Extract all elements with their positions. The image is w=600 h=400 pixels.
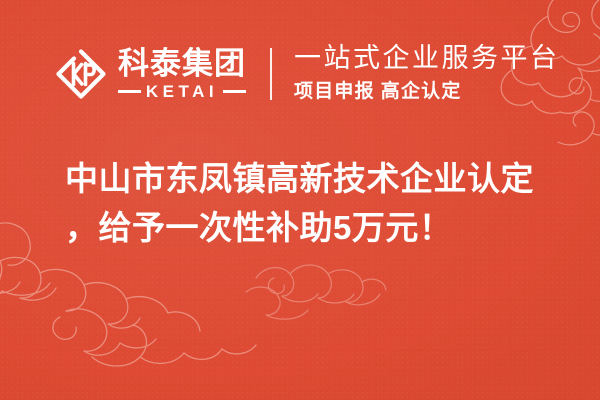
- brand-name-cn: 科泰集团: [118, 48, 246, 80]
- tagline-main: 一站式企业服务平台: [294, 43, 560, 75]
- header-divider: [270, 48, 272, 100]
- headline: 中山市东凤镇高新技术企业认定 ，给予一次性补助5万元！: [65, 155, 565, 253]
- dash-right-icon: [223, 90, 246, 93]
- ketai-diamond-kp-logo-icon: [55, 48, 107, 100]
- banner-header: 科泰集团 KETAI 一站式企业服务平台 项目申报 高企认定: [0, 28, 600, 120]
- tagline-block: 一站式企业服务平台 项目申报 高企认定: [294, 43, 560, 105]
- dash-left-icon: [118, 90, 141, 93]
- brand-name-en: KETAI: [146, 83, 218, 100]
- cloud-pattern-icon: [238, 248, 388, 328]
- headline-line-1: 中山市东凤镇高新技术企业认定: [65, 155, 565, 204]
- headline-line-2: ，给予一次性补助5万元！: [65, 204, 565, 253]
- brand-wordmark: 科泰集团 KETAI: [118, 48, 246, 100]
- brand-name-en-row: KETAI: [118, 83, 246, 100]
- brand-logo[interactable]: 科泰集团 KETAI: [55, 48, 246, 100]
- tagline-sub: 项目申报 高企认定: [294, 80, 560, 105]
- promo-banner: 科泰集团 KETAI 一站式企业服务平台 项目申报 高企认定 中山市东凤镇高新技…: [0, 0, 600, 400]
